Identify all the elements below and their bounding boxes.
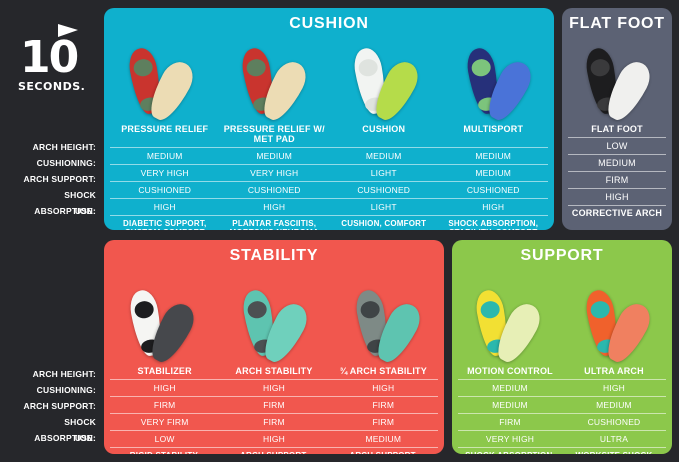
insole-icon (581, 48, 653, 122)
spec-value-cushioning-1: FIRM (110, 397, 219, 413)
spec-value-use-1: SHOCK ABSORPTION, COMFORT STABILITY (458, 448, 562, 454)
insole-icon (462, 48, 534, 122)
spec-value-shock-absorption-1: HIGH (568, 189, 666, 205)
spec-row-product-names: PRESSURE RELIEFPRESSURE RELIEF W/ MET PA… (110, 122, 548, 147)
row-label-shock-absorption: SHOCK ABSORPTION: (2, 187, 100, 203)
product-images-flat-foot (562, 36, 672, 122)
row-label-cushioning: CUSHIONING: (2, 382, 100, 398)
panel-title-flat-foot: FLAT FOOT (562, 8, 672, 36)
product-image-1 (104, 36, 217, 122)
spec-value-use-4: SHOCK ABSORPTION, STABILITY, COMFORT (439, 216, 549, 230)
spec-row-cushioning: MEDIUM (568, 154, 666, 171)
spec-value-arch-height-2: HIGH (562, 380, 666, 396)
spec-value-cushioning-1: MEDIUM (458, 397, 562, 413)
spec-value-arch-support-1: FIRM (568, 172, 666, 188)
product-name-1: MOTION CONTROL (458, 364, 562, 379)
panel-stability: STABILITY STABILIZERARCH STABILITY¾ ARCH… (104, 240, 444, 454)
product-name-2: PRESSURE RELIEF W/ MET PAD (220, 122, 330, 147)
insole-arch-pad (479, 299, 501, 319)
spec-value-shock-absorption-2: ULTRA (562, 431, 666, 447)
product-images-support (452, 268, 672, 364)
insole-icon (238, 290, 310, 364)
insole-icon (124, 48, 196, 122)
spec-value-arch-height-1: MEDIUM (458, 380, 562, 396)
spec-value-use-2: ARCH SUPPORT, SHOCK ABSORPTION (219, 448, 328, 454)
spec-value-shock-absorption-3: LIGHT (329, 199, 439, 215)
spec-row-shock-absorption: HIGHHIGHLIGHTHIGH (110, 198, 548, 215)
product-image-4 (442, 36, 555, 122)
spec-row-arch-support: CUSHIONEDCUSHIONEDCUSHIONEDCUSHIONED (110, 181, 548, 198)
brand-number: 10 (20, 36, 77, 80)
spec-row-arch-height: HIGHHIGHHIGH (110, 379, 438, 396)
insole-comparison-chart: 10 SECONDS. ARCH HEIGHT: CUSHIONING: ARC… (0, 0, 679, 462)
brand-logo: 10 SECONDS. (14, 22, 96, 94)
spec-table-support: MOTION CONTROLULTRA ARCHMEDIUMHIGHMEDIUM… (452, 364, 672, 454)
insole-icon (581, 290, 653, 364)
spec-row-use: RIGID STABILITY, ARCH SUPPORTARCH SUPPOR… (110, 447, 438, 454)
insole-icon (471, 290, 543, 364)
spec-row-cushioning: FIRMFIRMFIRM (110, 396, 438, 413)
insole-arch-pad (133, 299, 155, 319)
row-label-arch-support: ARCH SUPPORT: (2, 171, 100, 187)
spec-value-shock-absorption-4: HIGH (439, 199, 549, 215)
spec-value-shock-absorption-1: VERY HIGH (458, 431, 562, 447)
spec-value-cushioning-2: FIRM (219, 397, 328, 413)
spec-value-arch-height-2: MEDIUM (220, 148, 330, 164)
spec-row-product-names: STABILIZERARCH STABILITY¾ ARCH STABILITY (110, 364, 438, 379)
spec-row-arch-support: FIRM (568, 171, 666, 188)
insole-arch-pad (470, 57, 492, 77)
spec-value-use-2: PLANTAR FASCIITIS, MORTON'S NEUROMA (220, 216, 330, 230)
product-image-1 (452, 268, 562, 364)
spec-value-arch-height-3: HIGH (329, 380, 438, 396)
panel-cushion: CUSHION PRESSURE RELIEFPRESSURE RELIEF W… (104, 8, 554, 230)
product-name-3: ¾ ARCH STABILITY (329, 364, 438, 379)
spec-row-shock-absorption: LOWHIGHMEDIUM (110, 430, 438, 447)
spec-value-shock-absorption-2: HIGH (220, 199, 330, 215)
spec-value-arch-height-2: HIGH (219, 380, 328, 396)
spec-row-product-names: FLAT FOOT (568, 122, 666, 137)
spec-value-shock-absorption-3: MEDIUM (329, 431, 438, 447)
row-label-arch-height: ARCH HEIGHT: (2, 366, 100, 382)
row-label-arch-support: ARCH SUPPORT: (2, 398, 100, 414)
insole-arch-pad (589, 57, 611, 77)
product-name-2: ARCH STABILITY (219, 364, 328, 379)
spec-value-arch-height-1: MEDIUM (110, 148, 220, 164)
spec-value-arch-support-1: CUSHIONED (110, 182, 220, 198)
spec-value-arch-height-1: HIGH (110, 380, 219, 396)
spec-value-shock-absorption-1: LOW (110, 431, 219, 447)
insole-arch-pad (132, 57, 154, 77)
spec-value-use-3: ARCH SUPPORT, SHOCK ABSORPTION (329, 448, 438, 454)
spec-value-use-3: CUSHION, COMFORT (329, 216, 439, 230)
spec-value-arch-support-2: CUSHIONED (562, 414, 666, 430)
spec-value-cushioning-2: VERY HIGH (220, 165, 330, 181)
product-images-stability (104, 268, 444, 364)
spec-row-cushioning: MEDIUMMEDIUM (458, 396, 666, 413)
product-image-1 (104, 268, 217, 364)
product-image-3 (331, 268, 444, 364)
product-image-1 (562, 36, 672, 122)
spec-value-arch-support-3: CUSHIONED (329, 182, 439, 198)
spec-value-arch-support-2: CUSHIONED (220, 182, 330, 198)
spec-value-arch-height-4: MEDIUM (439, 148, 549, 164)
insole-arch-pad (246, 299, 268, 319)
spec-value-cushioning-3: FIRM (329, 397, 438, 413)
insole-arch-pad (357, 57, 379, 77)
product-image-3 (329, 36, 442, 122)
product-image-2 (562, 268, 672, 364)
insole-icon (237, 48, 309, 122)
spec-value-cushioning-1: MEDIUM (568, 155, 666, 171)
row-label-shock-absorption: SHOCK ABSORPTION: (2, 414, 100, 430)
spec-row-arch-height: MEDIUMHIGH (458, 379, 666, 396)
spec-value-arch-support-2: FIRM (219, 414, 328, 430)
product-image-2 (217, 268, 330, 364)
spec-row-product-names: MOTION CONTROLULTRA ARCH (458, 364, 666, 379)
panel-title-stability: STABILITY (104, 240, 444, 268)
spec-table-stability: STABILIZERARCH STABILITY¾ ARCH STABILITY… (104, 364, 444, 454)
spec-value-cushioning-4: MEDIUM (439, 165, 549, 181)
panel-title-support: SUPPORT (452, 240, 672, 268)
product-name-2: ULTRA ARCH (562, 364, 666, 379)
row-labels-top: ARCH HEIGHT: CUSHIONING: ARCH SUPPORT: S… (2, 139, 100, 219)
insole-icon (349, 48, 421, 122)
spec-value-use-1: CORRECTIVE ARCH (568, 206, 666, 221)
row-label-arch-height: ARCH HEIGHT: (2, 139, 100, 155)
insole-arch-pad (359, 299, 381, 319)
product-name-3: CUSHION (329, 122, 439, 147)
spec-row-arch-height: LOW (568, 137, 666, 154)
spec-row-use: CORRECTIVE ARCH (568, 205, 666, 221)
spec-table-flat-foot: FLAT FOOTLOWMEDIUMFIRMHIGHCORRECTIVE ARC… (562, 122, 672, 226)
insole-icon (351, 290, 423, 364)
spec-value-use-1: DIABETIC SUPPORT, CUSTOM COMFORT (110, 216, 220, 230)
spec-value-use-2: WORKSITE SHOCK ABSORPTION (562, 448, 666, 454)
spec-value-arch-support-1: VERY FIRM (110, 414, 219, 430)
spec-value-shock-absorption-2: HIGH (219, 431, 328, 447)
spec-row-arch-height: MEDIUMMEDIUMMEDIUMMEDIUM (110, 147, 548, 164)
row-labels-bottom: ARCH HEIGHT: CUSHIONING: ARCH SUPPORT: S… (2, 366, 100, 446)
spec-table-cushion: PRESSURE RELIEFPRESSURE RELIEF W/ MET PA… (104, 122, 554, 230)
spec-value-cushioning-1: VERY HIGH (110, 165, 220, 181)
spec-value-arch-height-3: MEDIUM (329, 148, 439, 164)
spec-row-shock-absorption: VERY HIGHULTRA (458, 430, 666, 447)
brand-word: SECONDS. (18, 80, 85, 93)
product-name-4: MULTISPORT (439, 122, 549, 147)
spec-row-shock-absorption: HIGH (568, 188, 666, 205)
spec-value-use-1: RIGID STABILITY, ARCH SUPPORT (110, 448, 219, 454)
spec-row-use: DIABETIC SUPPORT, CUSTOM COMFORTPLANTAR … (110, 215, 548, 230)
product-name-1: PRESSURE RELIEF (110, 122, 220, 147)
spec-value-arch-height-1: LOW (568, 138, 666, 154)
row-label-cushioning: CUSHIONING: (2, 155, 100, 171)
spec-row-cushioning: VERY HIGHVERY HIGHLIGHTMEDIUM (110, 164, 548, 181)
spec-value-cushioning-3: LIGHT (329, 165, 439, 181)
spec-value-arch-support-4: CUSHIONED (439, 182, 549, 198)
panel-support: SUPPORT MOTION CONTROLULTRA ARCHMEDIUMHI… (452, 240, 672, 454)
product-name-1: FLAT FOOT (568, 122, 666, 137)
product-images-cushion (104, 36, 554, 122)
spec-value-arch-support-1: FIRM (458, 414, 562, 430)
panel-flat-foot: FLAT FOOT FLAT FOOTLOWMEDIUMFIRMHIGHCORR… (562, 8, 672, 230)
panel-title-cushion: CUSHION (104, 8, 554, 36)
spec-value-arch-support-3: FIRM (329, 414, 438, 430)
spec-value-cushioning-2: MEDIUM (562, 397, 666, 413)
product-name-1: STABILIZER (110, 364, 219, 379)
spec-value-shock-absorption-1: HIGH (110, 199, 220, 215)
spec-row-use: SHOCK ABSORPTION, COMFORT STABILITYWORKS… (458, 447, 666, 454)
insole-icon (125, 290, 197, 364)
spec-row-arch-support: FIRMCUSHIONED (458, 413, 666, 430)
spec-row-arch-support: VERY FIRMFIRMFIRM (110, 413, 438, 430)
insole-arch-pad (245, 57, 267, 77)
product-image-2 (217, 36, 330, 122)
insole-arch-pad (589, 299, 611, 319)
